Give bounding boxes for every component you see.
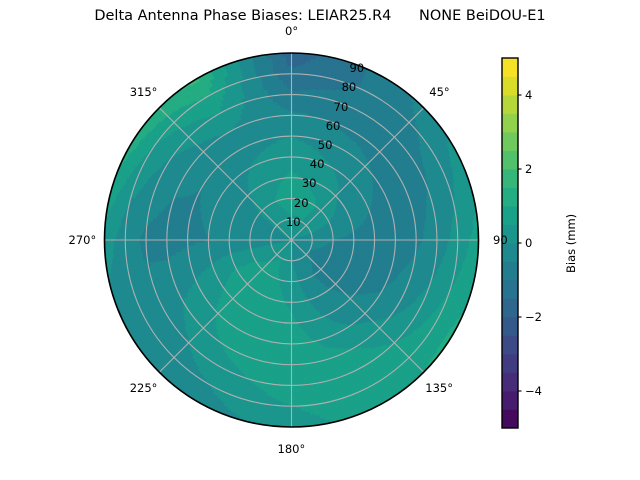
- colorbar-tick-2: 2: [525, 162, 532, 176]
- colorbar-tick-0: 0: [525, 236, 532, 250]
- colorbar-tick-−4: −4: [525, 384, 542, 398]
- theta-tick-225: 225°: [130, 381, 158, 395]
- theta-tick-270: 270°: [69, 233, 97, 247]
- theta-tick-0: 0°: [285, 24, 298, 38]
- r-tick-70: 70: [334, 100, 349, 114]
- colorbar-tick-4: 4: [525, 88, 532, 102]
- r-tick-80: 80: [342, 80, 357, 94]
- colorbar-axis-title: Bias (mm): [564, 213, 578, 272]
- matplotlib-figure: Delta Antenna Phase Biases: LEIAR25.R4 N…: [0, 0, 640, 480]
- r-tick-30: 30: [302, 176, 317, 190]
- colorbar-tick-−2: −2: [525, 310, 542, 324]
- r-tick-90: 90: [350, 61, 365, 75]
- theta-tick-135: 135°: [425, 381, 453, 395]
- r-tick-60: 60: [326, 119, 341, 133]
- r-tick-10: 10: [286, 215, 301, 229]
- theta-tick-315: 315°: [130, 85, 158, 99]
- theta-tick-45: 45°: [429, 85, 449, 99]
- theta-tick-180: 180°: [278, 442, 306, 456]
- polar-grid: [105, 53, 479, 427]
- r-tick-20: 20: [294, 196, 309, 210]
- r-tick-50: 50: [318, 138, 333, 152]
- theta-tick-90: 90: [493, 233, 508, 247]
- page-title: Delta Antenna Phase Biases: LEIAR25.R4 N…: [0, 8, 640, 24]
- r-tick-40: 40: [310, 157, 325, 171]
